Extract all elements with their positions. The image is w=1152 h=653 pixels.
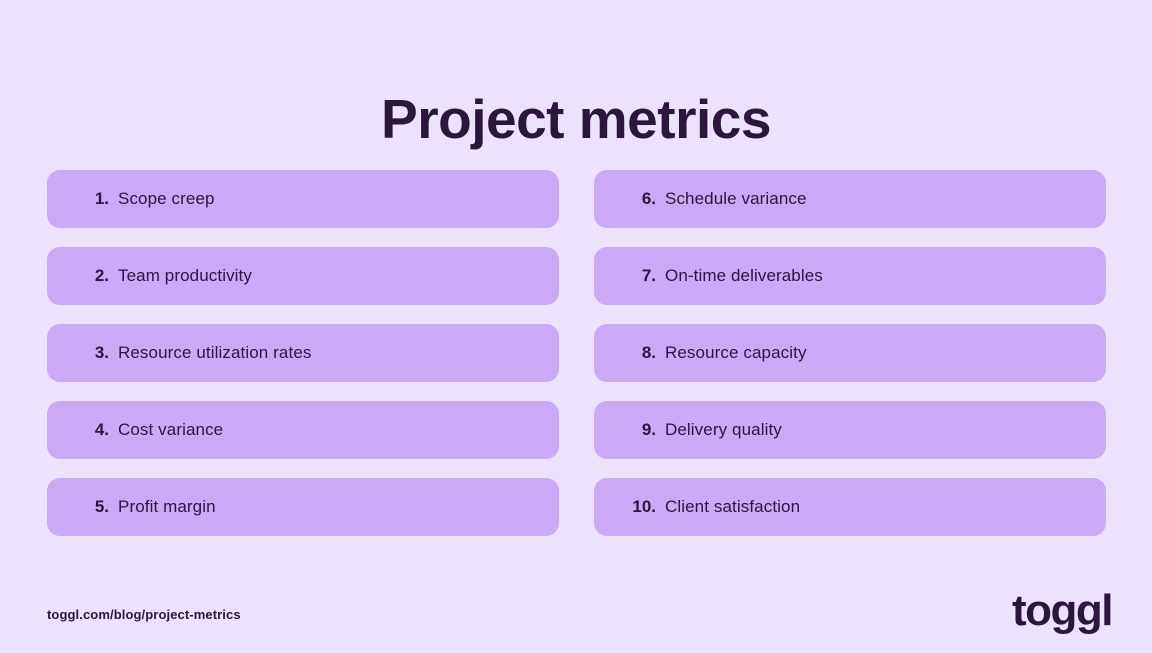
list-item: 10. Client satisfaction xyxy=(594,478,1106,536)
list-item-number: 4. xyxy=(65,420,109,440)
list-item-number: 3. xyxy=(65,343,109,363)
source-url: toggl.com/blog/project-metrics xyxy=(47,607,241,622)
list-item-label: Team productivity xyxy=(118,266,252,286)
list-item-number: 10. xyxy=(612,497,656,517)
list-item-label: On-time deliverables xyxy=(665,266,823,286)
list-item: 7. On-time deliverables xyxy=(594,247,1106,305)
list-item: 4. Cost variance xyxy=(47,401,559,459)
list-item-label: Client satisfaction xyxy=(665,497,800,517)
list-item: 2. Team productivity xyxy=(47,247,559,305)
list-item: 6. Schedule variance xyxy=(594,170,1106,228)
list-item: 3. Resource utilization rates xyxy=(47,324,559,382)
poster-canvas: Project metrics 1. Scope creep 6. Schedu… xyxy=(0,0,1152,653)
list-item-label: Resource utilization rates xyxy=(118,343,311,363)
list-item-label: Schedule variance xyxy=(665,189,807,209)
list-item: 5. Profit margin xyxy=(47,478,559,536)
list-item-number: 1. xyxy=(65,189,109,209)
list-item-label: Profit margin xyxy=(118,497,216,517)
page-title: Project metrics xyxy=(0,89,1152,150)
list-item-number: 5. xyxy=(65,497,109,517)
metrics-list: 1. Scope creep 6. Schedule variance 2. T… xyxy=(47,170,1106,536)
list-item-label: Resource capacity xyxy=(665,343,807,363)
list-item-label: Scope creep xyxy=(118,189,215,209)
list-item: 9. Delivery quality xyxy=(594,401,1106,459)
list-item: 1. Scope creep xyxy=(47,170,559,228)
list-item-number: 9. xyxy=(612,420,656,440)
list-item: 8. Resource capacity xyxy=(594,324,1106,382)
list-item-label: Delivery quality xyxy=(665,420,782,440)
toggl-logo: toggl xyxy=(1008,588,1112,634)
list-item-number: 6. xyxy=(612,189,656,209)
list-item-label: Cost variance xyxy=(118,420,223,440)
list-item-number: 7. xyxy=(612,266,656,286)
list-item-number: 2. xyxy=(65,266,109,286)
list-item-number: 8. xyxy=(612,343,656,363)
toggl-logo-wordmark: toggl xyxy=(1012,589,1112,633)
